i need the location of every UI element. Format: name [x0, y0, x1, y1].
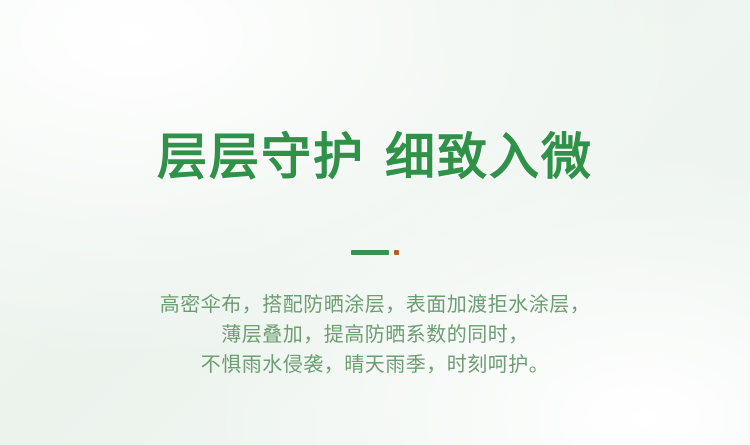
heading-block: 层层守护细致入微 — [0, 98, 750, 215]
page-title-part-1: 层层守护 — [157, 128, 365, 186]
description-line: 高密伞布，搭配防晒涂层，表面加渡拒水涂层， — [0, 289, 750, 319]
divider-bar-icon — [351, 250, 389, 255]
page-title-part-2: 细致入微 — [385, 128, 593, 186]
divider-dot-icon — [394, 250, 399, 255]
page-title: 层层守护细致入微 — [157, 132, 593, 182]
description-paragraph: 高密伞布，搭配防晒涂层，表面加渡拒水涂层， 薄层叠加，提高防晒系数的同时， 不惧… — [0, 289, 750, 379]
description-line: 薄层叠加，提高防晒系数的同时， — [0, 319, 750, 349]
promo-banner: 层层守护细致入微 高密伞布，搭配防晒涂层，表面加渡拒水涂层， 薄层叠加，提高防晒… — [0, 0, 750, 445]
description-line: 不惧雨水侵袭，晴天雨季，时刻呵护。 — [0, 349, 750, 379]
section-divider — [351, 247, 399, 257]
